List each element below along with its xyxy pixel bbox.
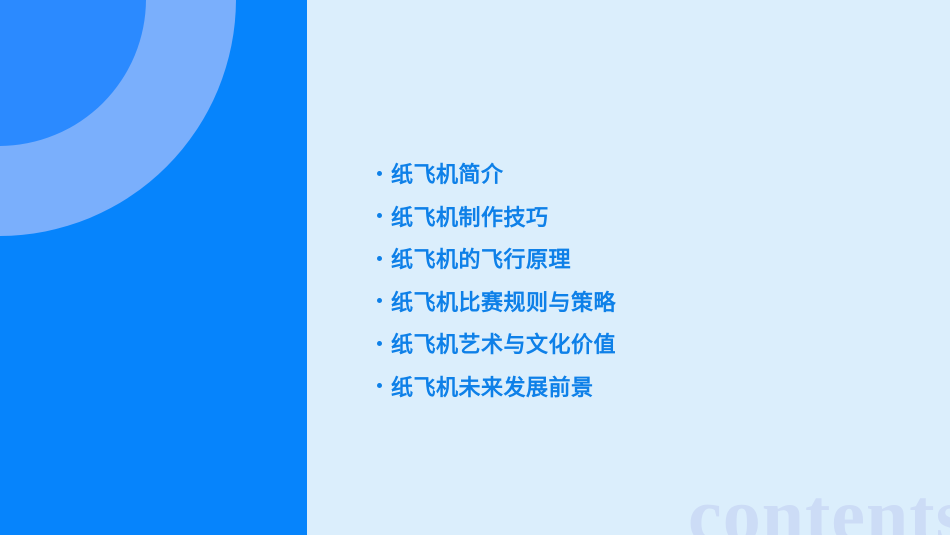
slide-root: 目 录 纸飞机简介 纸飞机制作技巧 纸飞机的飞行原理 纸飞机比赛规则与策略 [0, 0, 950, 535]
list-item[interactable]: 纸飞机艺术与文化价值 [377, 322, 616, 365]
left-title-panel: 目 录 [0, 0, 307, 535]
page-title: 目 录 [0, 305, 245, 535]
list-item[interactable]: 纸飞机未来发展前景 [377, 365, 616, 408]
list-item-label: 纸飞机艺术与文化价值 [391, 327, 616, 359]
list-item-label: 纸飞机的飞行原理 [391, 242, 571, 274]
list-item-label: 纸飞机简介 [391, 157, 504, 189]
list-item[interactable]: 纸飞机简介 [377, 152, 616, 195]
list-item[interactable]: 纸飞机比赛规则与策略 [377, 280, 616, 323]
list-item-label: 纸飞机比赛规则与策略 [391, 285, 616, 317]
list-item-label: 纸飞机制作技巧 [391, 200, 549, 232]
list-item-label: 纸飞机未来发展前景 [391, 370, 594, 402]
list-item[interactable]: 纸飞机制作技巧 [377, 195, 616, 238]
contents-watermark: contents [688, 478, 950, 535]
contents-panel: 纸飞机简介 纸飞机制作技巧 纸飞机的飞行原理 纸飞机比赛规则与策略 纸飞机艺术与… [307, 0, 950, 535]
table-of-contents-list: 纸飞机简介 纸飞机制作技巧 纸飞机的飞行原理 纸飞机比赛规则与策略 纸飞机艺术与… [377, 152, 616, 407]
list-item[interactable]: 纸飞机的飞行原理 [377, 237, 616, 280]
